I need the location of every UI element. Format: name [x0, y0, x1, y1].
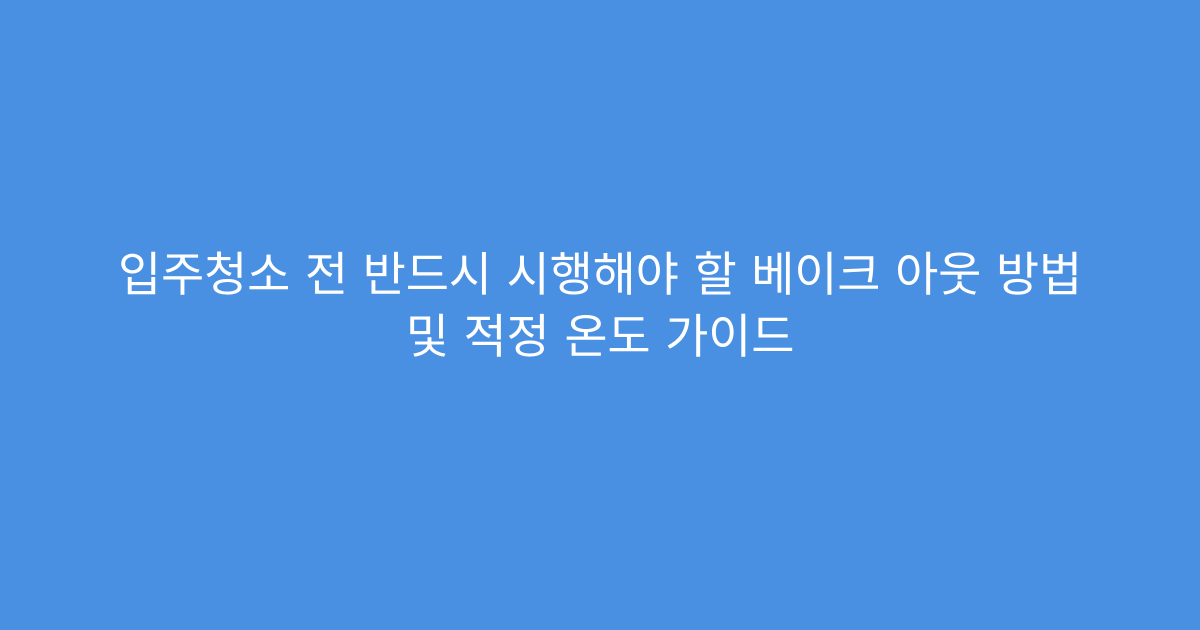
headline-block: 입주청소 전 반드시 시행해야 할 베이크 아웃 방법 및 적정 온도 가이드	[60, 245, 1140, 369]
social-share-card: 입주청소 전 반드시 시행해야 할 베이크 아웃 방법 및 적정 온도 가이드	[0, 0, 1200, 630]
page-title: 입주청소 전 반드시 시행해야 할 베이크 아웃 방법 및 적정 온도 가이드	[100, 245, 1100, 369]
